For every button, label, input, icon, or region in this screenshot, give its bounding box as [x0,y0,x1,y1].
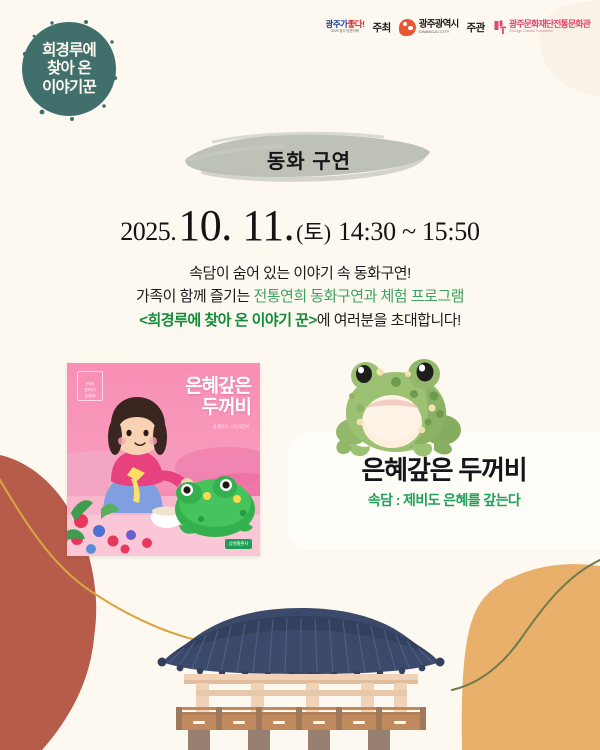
gwangju-good-logo-sub: 2025 광주 방문의해 [331,30,358,34]
gwangju-city-mark-icon [399,19,416,36]
host-label: 주최 [372,20,390,35]
banner-label: 동화 구연 [176,126,436,188]
gwangju-good-logo-main: 광주가좋다! [326,20,365,29]
description-line-2-plain: 가족이 함께 즐기는 [136,288,253,305]
date-time-range: 14:30 ~ 15:50 [338,217,480,247]
book-badge-line1: 한국의 [86,381,94,386]
book-series-badge: 한국의 옛이야기 전래동화 [77,371,103,401]
bottom-right-blob-fill [467,568,600,750]
foundation-korean: 광주문화재단전통문화관 [509,20,590,29]
story-proverb: 속담 : 제비도 은혜를 갚는다 [288,490,600,510]
pavilion-illustration [150,598,452,750]
book-badge-line2: 옛이야기 [85,387,96,392]
gwangju-city-english: GWANGJU CITY [419,30,459,34]
description-line-3-title: <희경루에 찾아 온 이야기 꾼> [139,312,317,329]
gwangju-good-part2: 좋다! [347,19,364,29]
brand-stamp: 희경루에 찾아 온 이야기꾼 [16,16,122,122]
book-title-line1: 은혜갚은 [185,376,251,397]
date-month-day: 10. 11. [178,200,294,251]
frog-icon [330,352,462,462]
section-banner: 동화 구연 [176,126,436,188]
brand-stamp-line2: 찾아 온 [47,60,91,77]
gwangju-city-logo-text: 광주광역시 GWANGJU CITY [419,20,459,35]
foundation-logo: 광주문화재단전통문화관 Gwangju Cultural Foundation [493,20,590,35]
bottom-right-blob [462,564,600,750]
event-description: 속담이 숨어 있는 이야기 속 동화구연! 가족이 함께 즐기는 전통연희 동화… [0,262,600,332]
description-line-1: 속담이 숨어 있는 이야기 속 동화구연! [0,262,600,285]
book-cover-image: 한국의 옛이야기 전래동화 은혜갚은 두꺼비 글 홍윤희 · 그림 정진희 삼성… [67,363,260,556]
book-publisher-logo: 삼성출판사 [225,539,252,549]
gwangju-city-korean: 광주광역시 [419,20,459,30]
book-badge-line3: 전래동화 [85,393,96,398]
header-logo-bar: 광주가좋다! 2025 광주 방문의해 주최 광주광역시 GWANGJU CIT… [326,8,591,46]
event-date-row: 2025. 10. 11. (토) 14:30 ~ 15:50 [0,200,600,251]
gwangju-good-part1: 광주가 [326,19,348,29]
brand-stamp-text: 희경루에 찾아 온 이야기꾼 [16,16,122,122]
foundation-logo-text: 광주문화재단전통문화관 Gwangju Cultural Foundation [509,20,590,33]
olive-accent-line [452,560,600,690]
brand-stamp-line3: 이야기꾼 [42,79,96,96]
description-line-2-highlight: 전통연희 동화구연과 체험 프로그램 [253,288,464,305]
organizer-label: 주관 [466,20,484,35]
foundation-mark-icon [493,20,507,35]
book-cover-title: 은혜갚은 두꺼비 [185,376,251,419]
event-poster: 희경루에 찾아 온 이야기꾼 광주가좋다! 2025 광주 방문의해 주최 광주… [0,0,600,750]
description-line-3-plain: 에 여러분을 초대합니다! [317,312,461,329]
brand-stamp-line1: 희경루에 [42,42,96,59]
foundation-english: Gwangju Cultural Foundation [509,30,590,33]
date-year: 2025. [120,217,176,247]
book-title-line2: 두꺼비 [185,397,251,418]
description-line-3: <희경루에 찾아 온 이야기 꾼>에 여러분을 초대합니다! [0,309,600,332]
description-line-2: 가족이 함께 즐기는 전통연희 동화구연과 체험 프로그램 [0,285,600,308]
date-day-of-week: (토) [296,215,331,247]
book-cover-byline: 글 홍윤희 · 그림 정진희 [213,424,249,430]
gwangju-city-logo: 광주광역시 GWANGJU CITY [399,19,459,36]
gwangju-good-logo: 광주가좋다! 2025 광주 방문의해 [326,20,365,34]
